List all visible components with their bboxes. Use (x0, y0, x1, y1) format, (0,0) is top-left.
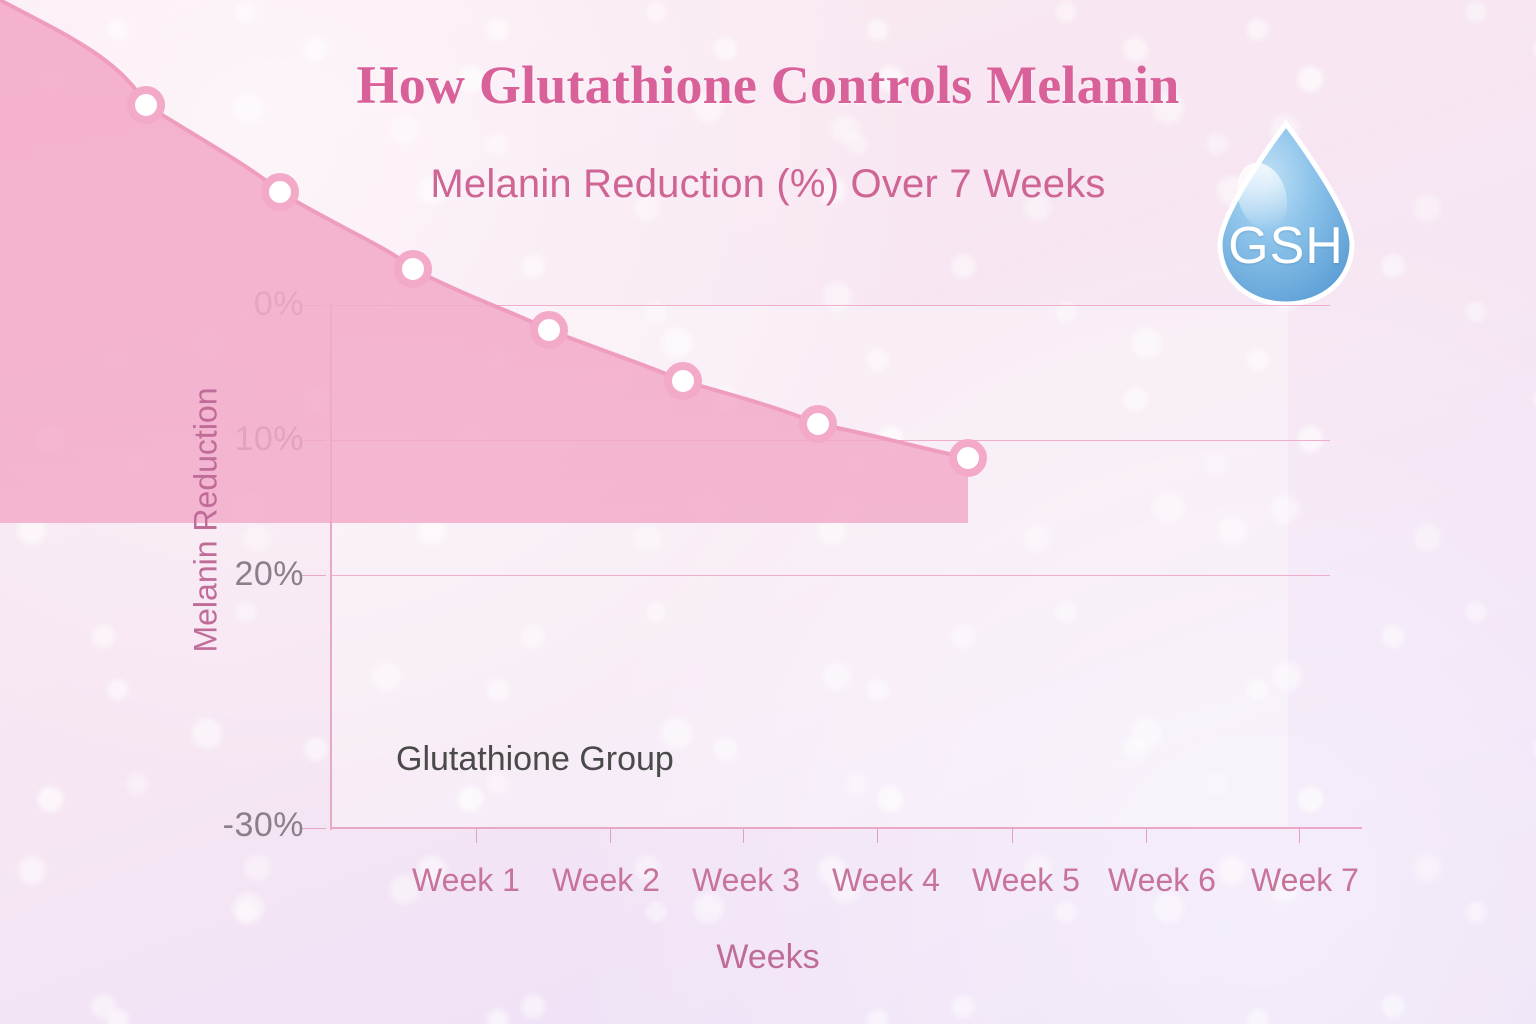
xtick-mark-week-5 (1012, 829, 1013, 843)
series-glutathione-group (0, 0, 1030, 560)
xtick-label-week-6: Week 6 (1108, 862, 1216, 899)
water-droplet-icon (1206, 118, 1366, 308)
data-point-week-4[interactable] (534, 315, 564, 345)
gsh-droplet-badge: GSH (1206, 118, 1366, 308)
xtick-label-week-4: Week 4 (832, 862, 940, 899)
series-annotation-label: Glutathione Group (396, 740, 674, 779)
xtick-label-week-1: Week 1 (412, 862, 520, 899)
ytick-label-30: -30% (144, 806, 304, 845)
x-axis-line (330, 827, 1362, 829)
xtick-mark-week-7 (1299, 829, 1300, 843)
gridline-20 (330, 575, 1330, 576)
xtick-mark-week-2 (610, 829, 611, 843)
data-point-week-7[interactable] (953, 443, 983, 473)
data-point-week-6[interactable] (803, 409, 833, 439)
data-point-week-3[interactable] (398, 254, 428, 284)
data-point-week-5[interactable] (668, 366, 698, 396)
data-point-week-2[interactable] (265, 177, 295, 207)
data-point-week-1[interactable] (131, 90, 161, 120)
xtick-label-week-7: Week 7 (1251, 862, 1359, 899)
chart-canvas: How Glutathione Controls Melanin Melanin… (0, 0, 1536, 1024)
xtick-label-week-2: Week 2 (552, 862, 660, 899)
xtick-mark-week-3 (743, 829, 744, 843)
xtick-mark-week-6 (1146, 829, 1147, 843)
xtick-mark-week-1 (476, 829, 477, 843)
xtick-mark-week-4 (877, 829, 878, 843)
xtick-label-week-5: Week 5 (972, 862, 1080, 899)
x-axis-title: Weeks (0, 938, 1536, 977)
y-axis-title: Melanin Reduction (188, 387, 225, 652)
xtick-label-week-3: Week 3 (692, 862, 800, 899)
area-fill (0, 0, 968, 523)
